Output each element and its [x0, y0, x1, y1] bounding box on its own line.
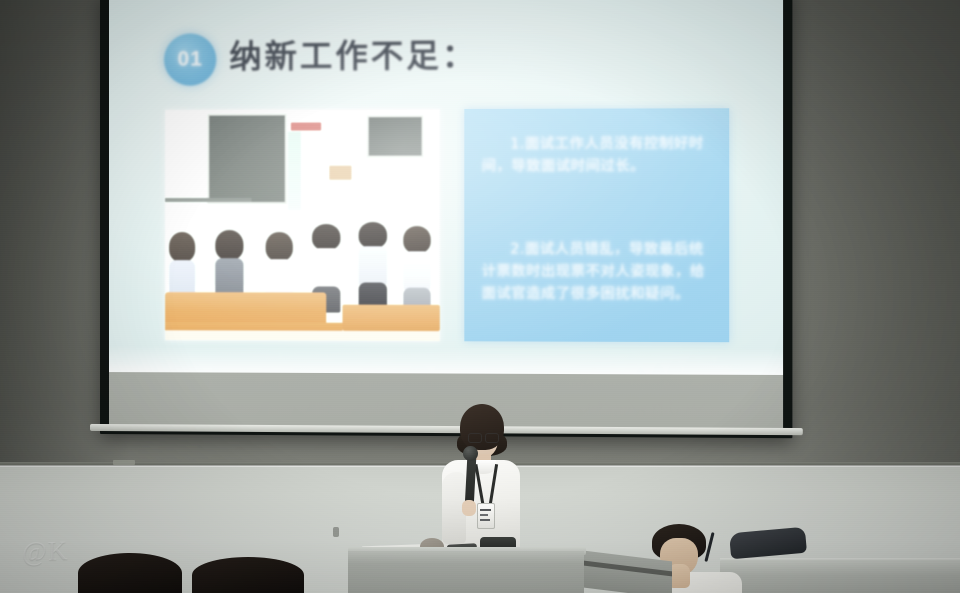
- presenter-id-badge: [477, 503, 495, 529]
- slide-number-badge: 01: [164, 33, 216, 85]
- photo-person-4-head: [312, 224, 340, 250]
- photo-person-5-head: [359, 222, 387, 248]
- wall-shadow-right: [775, 0, 960, 470]
- photo-wall-card: [329, 166, 351, 180]
- slide-photo: [165, 109, 440, 341]
- slide-bottom-fade: [109, 346, 783, 375]
- audience-head-left: [78, 553, 182, 593]
- photo-person-6: [403, 226, 430, 317]
- photo-person-5: [359, 222, 387, 317]
- photo-person-3-head: [266, 232, 293, 261]
- id-badge-line-2: [480, 514, 488, 516]
- microphone-head: [463, 446, 478, 461]
- photo-blackboard: [207, 113, 287, 203]
- photo-person-4-body: [312, 248, 340, 288]
- watermark: @K: [21, 535, 68, 568]
- photo-blackboard-rail: [165, 198, 251, 202]
- photo-person-6-head: [403, 226, 430, 253]
- slide-number-label: 01: [164, 33, 216, 85]
- whiteboard-mark: [333, 527, 339, 537]
- photo-notice-board: [288, 132, 301, 210]
- photo-person-6-body: [403, 251, 430, 289]
- right-desk: [720, 560, 960, 593]
- presenter-glasses-right-lens: [485, 433, 499, 443]
- projection-screen-surface: 01 纳新工作不足：: [109, 0, 783, 428]
- podium: [348, 551, 584, 593]
- audience-head-right: [192, 557, 304, 593]
- presenter-hair: [460, 404, 504, 450]
- photo-person-5-body: [359, 246, 387, 284]
- photo-wall-panel: [367, 115, 424, 157]
- photo-desk-right: [342, 305, 439, 331]
- slide-textbox: 1.面试工作人员没有控制好时间，导致面试时间过长。 2.面试人员错乱，导致最后统…: [464, 108, 729, 342]
- photo-person-1-head: [169, 232, 195, 262]
- presenter-hand: [462, 500, 476, 516]
- whiteboard-rail-clip: [113, 460, 135, 465]
- id-badge-line-1: [480, 509, 491, 511]
- slide: 01 纳新工作不足：: [109, 0, 783, 375]
- id-badge-line-3: [480, 519, 490, 521]
- photo-person-2-head: [215, 230, 243, 260]
- slide-title: 纳新工作不足：: [229, 30, 477, 77]
- screenshot-root: 01 纳新工作不足：: [0, 0, 960, 593]
- projection-screen: 01 纳新工作不足：: [100, 0, 792, 438]
- slide-paragraph-1: 1.面试工作人员没有控制好时间，导致面试时间过长。: [482, 133, 715, 178]
- photo-floor: [165, 330, 440, 341]
- slide-paragraph-2: 2.面试人员错乱，导致最后统计票数时出现票不对人姿现象，给面试官造成了很多困扰和…: [482, 238, 715, 305]
- presenter-glasses-left-lens: [468, 433, 482, 443]
- photo-red-banner: [291, 122, 321, 130]
